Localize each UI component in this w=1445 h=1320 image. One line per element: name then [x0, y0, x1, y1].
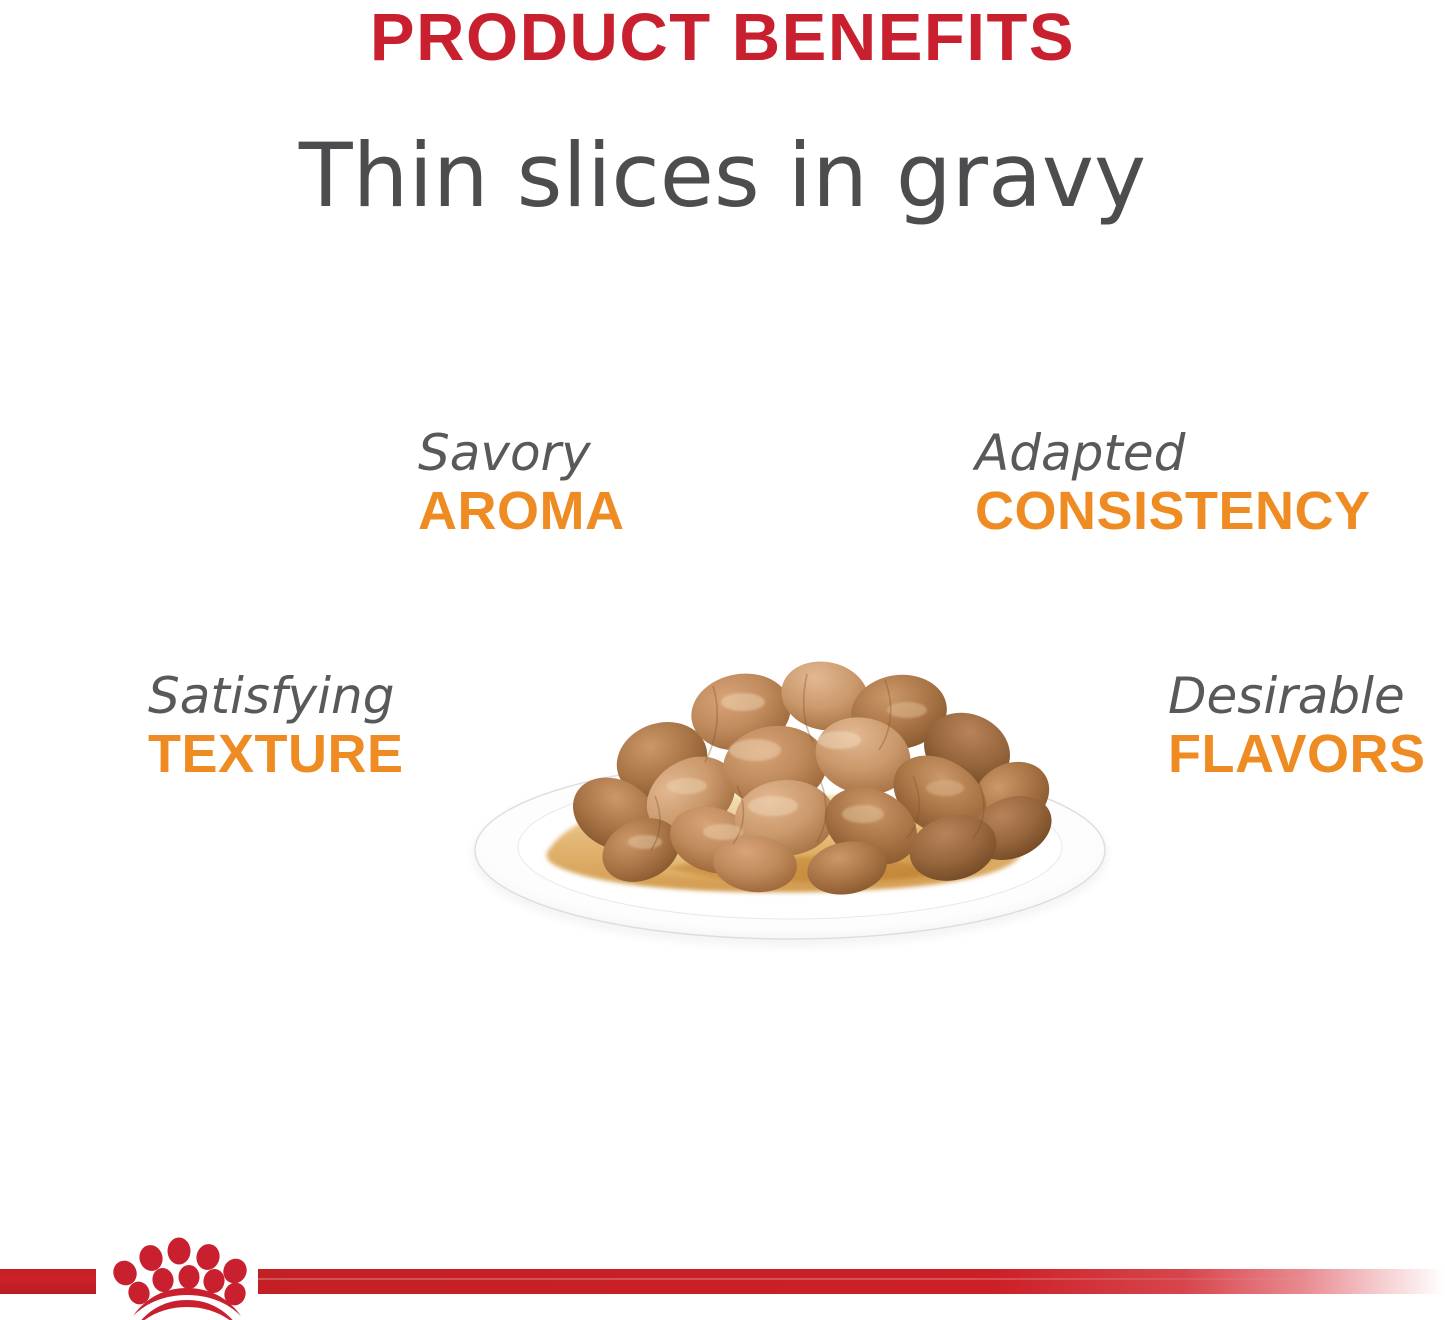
- benefit-consistency: Adapted CONSISTENCY: [975, 425, 1371, 541]
- benefit-texture-adjective: Satisfying: [148, 668, 404, 724]
- footer-bar-right-segment: [258, 1269, 1445, 1294]
- benefit-texture: Satisfying TEXTURE: [148, 668, 404, 784]
- footer-bar-left-segment: [0, 1269, 96, 1294]
- benefit-flavors-adjective: Desirable: [1168, 668, 1426, 724]
- wet-food-plate-image: [455, 600, 1125, 955]
- page-subtitle: Thin slices in gravy: [0, 130, 1445, 222]
- benefit-texture-noun: TEXTURE: [148, 724, 404, 784]
- benefit-aroma-adjective: Savory: [418, 425, 624, 481]
- benefit-consistency-noun: CONSISTENCY: [975, 481, 1371, 541]
- royal-canin-crown-logo: [113, 1236, 265, 1320]
- benefit-consistency-adjective: Adapted: [975, 425, 1371, 481]
- benefit-flavors: Desirable FLAVORS: [1168, 668, 1426, 784]
- page-title: PRODUCT BENEFITS: [0, 4, 1445, 71]
- benefit-flavors-noun: FLAVORS: [1168, 724, 1426, 784]
- benefit-aroma-noun: AROMA: [418, 481, 624, 541]
- benefit-aroma: Savory AROMA: [418, 425, 624, 541]
